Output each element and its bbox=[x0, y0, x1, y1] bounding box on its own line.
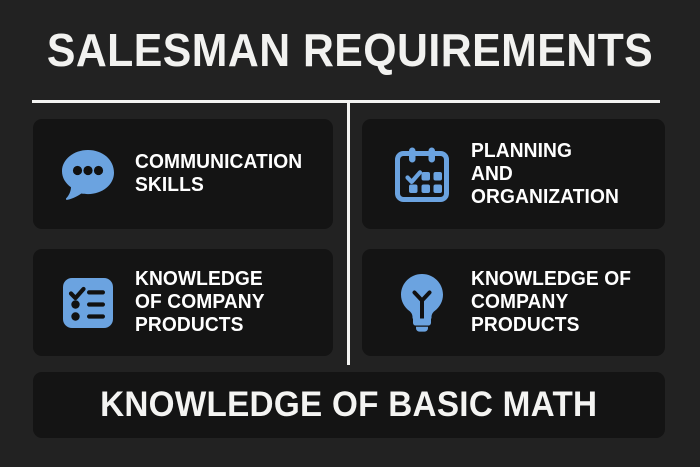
card-label: COMMUNICATION SKILLS bbox=[135, 151, 302, 197]
infographic-poster: SALESMAN REQUIREMENTS COMMUNICATION SKIL… bbox=[0, 0, 700, 467]
horizontal-divider bbox=[32, 100, 660, 103]
speech-bubble-icon bbox=[59, 138, 117, 210]
card-label: KNOWLEDGE OF COMPANY PRODUCTS bbox=[135, 268, 265, 337]
card-label: PLANNING AND ORGANIZATION bbox=[471, 140, 619, 209]
card-communication-skills[interactable]: COMMUNICATION SKILLS bbox=[33, 119, 333, 229]
calendar-check-icon bbox=[393, 138, 451, 210]
page-title: SALESMAN REQUIREMENTS bbox=[25, 24, 676, 76]
lightbulb-icon bbox=[393, 267, 451, 339]
card-planning-and-organization[interactable]: PLANNING AND ORGANIZATION bbox=[362, 119, 665, 229]
vertical-divider bbox=[347, 103, 350, 365]
card-knowledge-of-company-products-checklist[interactable]: KNOWLEDGE OF COMPANY PRODUCTS bbox=[33, 249, 333, 356]
checklist-icon bbox=[59, 267, 117, 339]
card-knowledge-of-company-products-bulb[interactable]: KNOWLEDGE OF COMPANY PRODUCTS bbox=[362, 249, 665, 356]
banner-label: KNOWLEDGE OF BASIC MATH bbox=[100, 386, 597, 424]
banner-knowledge-of-basic-math[interactable]: KNOWLEDGE OF BASIC MATH bbox=[33, 372, 665, 438]
card-label: KNOWLEDGE OF COMPANY PRODUCTS bbox=[471, 268, 631, 337]
